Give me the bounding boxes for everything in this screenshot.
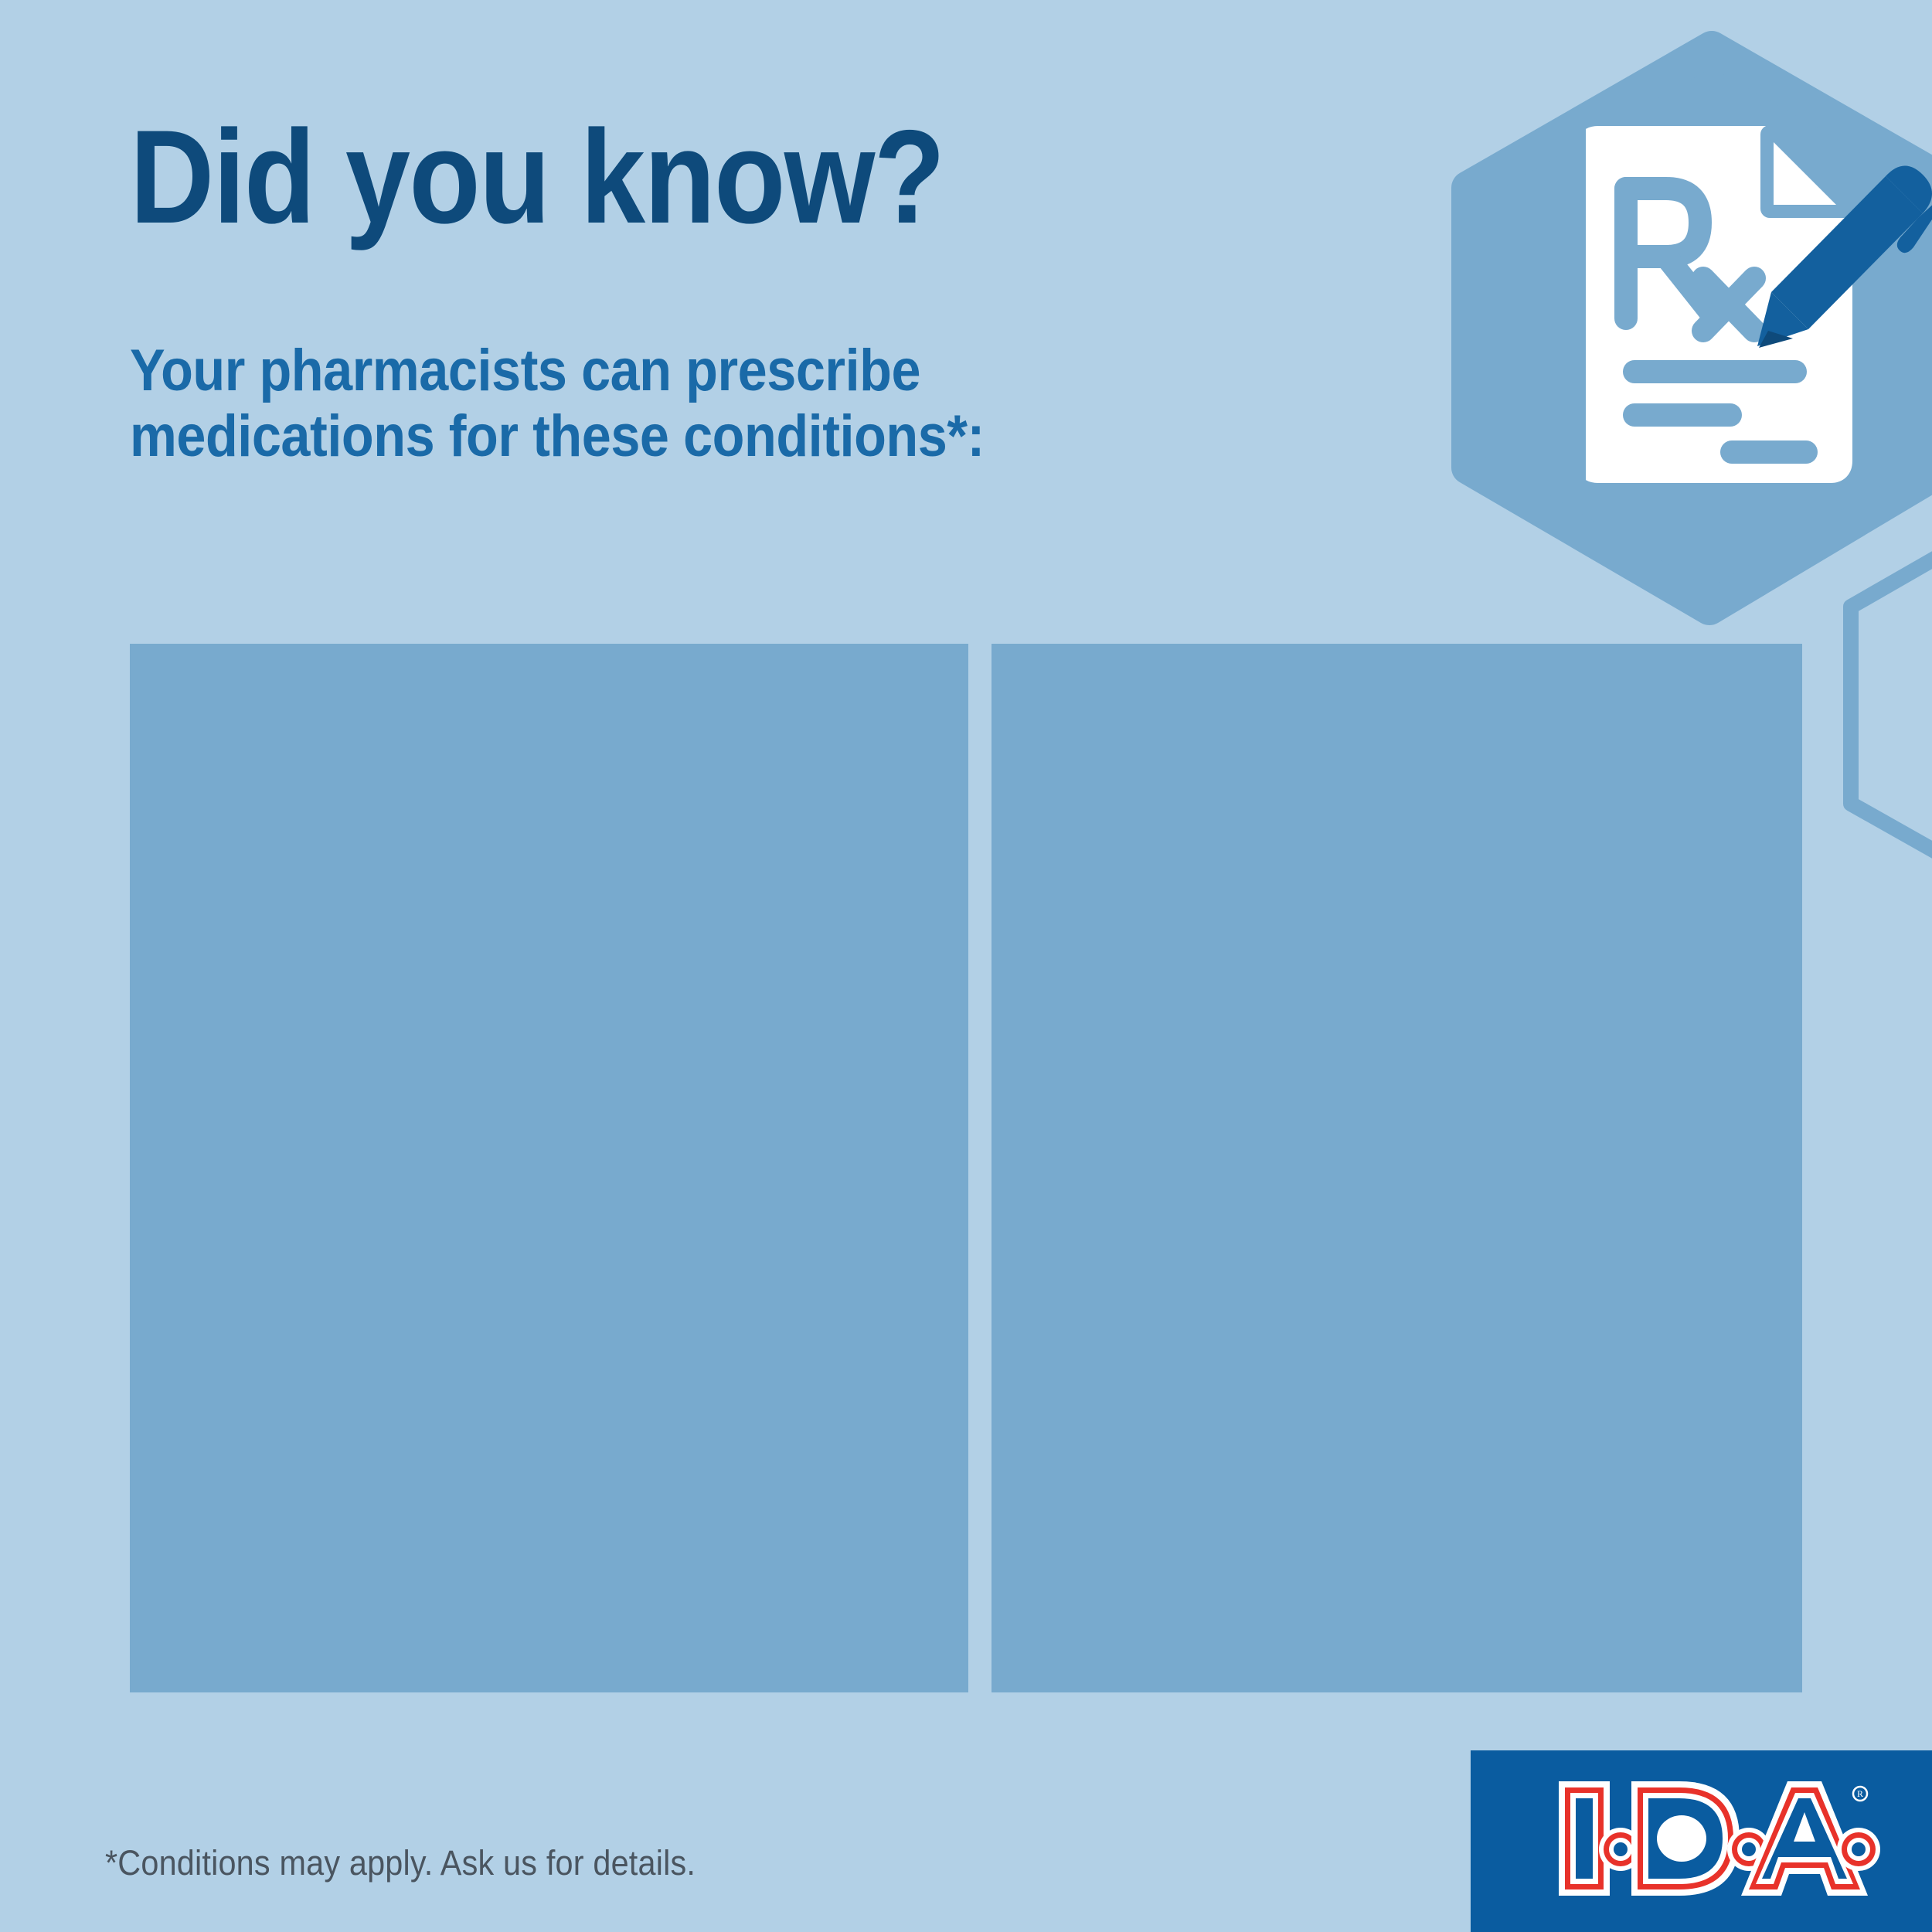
ida-logo-icon: R <box>1556 1777 1880 1900</box>
ida-dot-2-blue <box>1742 1842 1756 1856</box>
document-text-line-1 <box>1623 360 1807 383</box>
brand-logo-block: R <box>1471 1750 1932 1932</box>
content-panel-right <box>992 644 1802 1692</box>
page-subtitle: Your pharmacists can prescribe medicatio… <box>130 338 1243 469</box>
document-signature-line <box>1720 440 1818 464</box>
ida-dot-3-blue <box>1852 1842 1866 1856</box>
poster-canvas: Did you know? Your pharmacists can presc… <box>0 0 1932 1932</box>
ida-dot-1-blue <box>1614 1842 1628 1856</box>
content-panel-left <box>130 644 968 1692</box>
ida-letter-i-blue <box>1576 1798 1593 1879</box>
page-title: Did you know? <box>130 108 1218 247</box>
ida-letter-d-counter <box>1657 1815 1706 1862</box>
heading-block: Did you know? Your pharmacists can presc… <box>130 108 1366 469</box>
prescription-document-pen-icon <box>1586 124 1932 495</box>
registered-mark-letter: R <box>1857 1788 1863 1799</box>
footnote-disclaimer: *Conditions may apply. Ask us for detail… <box>105 1844 696 1883</box>
hexagon-outline-shape <box>1851 471 1932 937</box>
document-text-line-2 <box>1623 403 1742 427</box>
ida-logo-letters <box>1559 1781 1880 1896</box>
